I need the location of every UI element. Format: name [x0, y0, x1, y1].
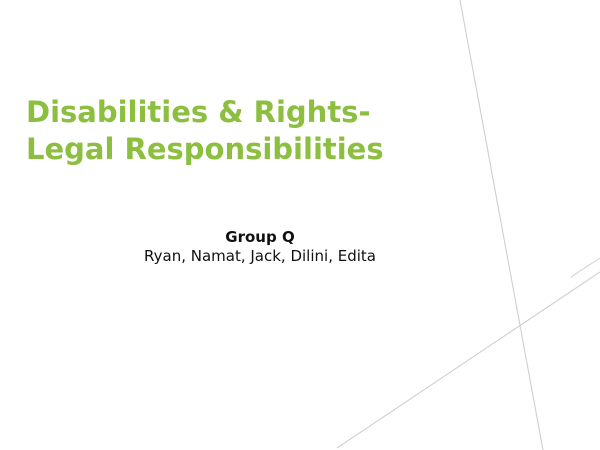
decor-line-corner: [571, 258, 600, 277]
title-block: Disabilities & Rights- Legal Responsibil…: [26, 94, 446, 168]
decor-line-steep-top: [460, 0, 543, 450]
subtitle-block: Group Q Ryan, Namat, Jack, Dilini, Edita: [60, 228, 460, 266]
subtitle-group-label: Group Q: [60, 228, 460, 247]
slide-title: Disabilities & Rights- Legal Responsibil…: [26, 94, 446, 168]
decorative-line-art: [0, 0, 600, 450]
decor-line-shallow: [337, 272, 600, 448]
subtitle-member-names: Ryan, Namat, Jack, Dilini, Edita: [60, 247, 460, 266]
slide-canvas: Disabilities & Rights- Legal Responsibil…: [0, 0, 600, 450]
